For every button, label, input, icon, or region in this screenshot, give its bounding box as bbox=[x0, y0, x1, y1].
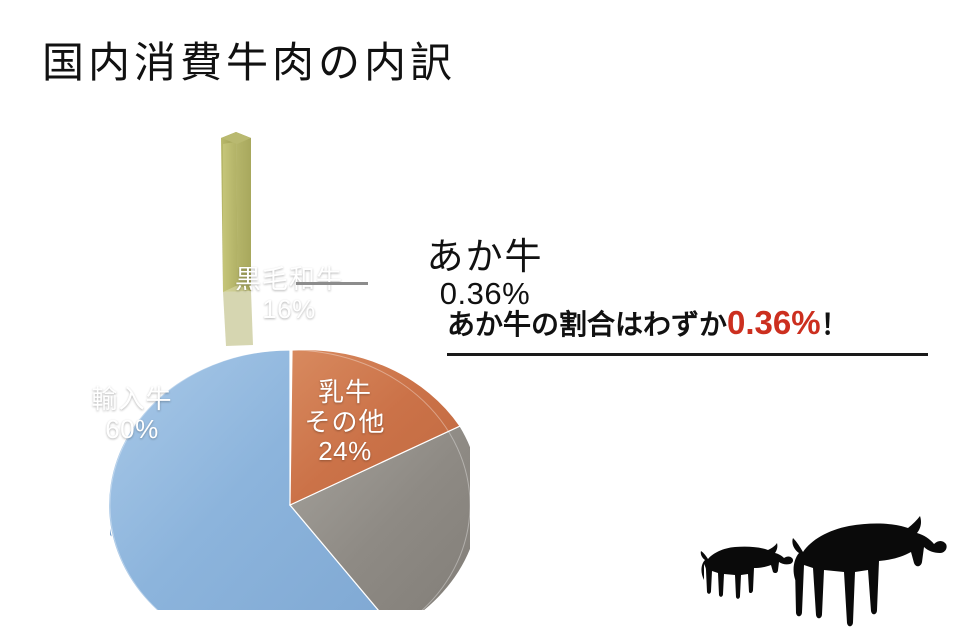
headline-prefix: あか牛の割合はわずか bbox=[447, 309, 727, 340]
cow-silhouettes bbox=[686, 512, 948, 632]
infographic-slide: 国内消費牛肉の内訳 bbox=[0, 0, 964, 643]
leader-line-akaushi bbox=[296, 282, 368, 285]
headline: あか牛の割合はわずか0.36%！ bbox=[447, 303, 849, 350]
cow-silhouette-svg bbox=[686, 512, 948, 632]
pie-chart-svg bbox=[40, 110, 470, 610]
headline-underline bbox=[447, 353, 928, 356]
slice-callout-akaushi-title: あか牛 bbox=[370, 236, 600, 277]
cow-silhouette-small-icon bbox=[701, 543, 793, 599]
cow-silhouette-large-icon bbox=[792, 516, 946, 626]
page-title: 国内消費牛肉の内訳 bbox=[42, 29, 456, 90]
pie-chart: 黒毛和牛 16% 乳牛 その他 24% 輸入牛 60% あか牛 0.36% bbox=[40, 110, 470, 610]
slice-callout-akaushi: あか牛 0.36% bbox=[370, 236, 600, 312]
headline-accent-value: 0.36% bbox=[727, 304, 821, 341]
pie-slice-akaushi[interactable] bbox=[221, 132, 253, 346]
headline-suffix: ！ bbox=[821, 309, 849, 340]
